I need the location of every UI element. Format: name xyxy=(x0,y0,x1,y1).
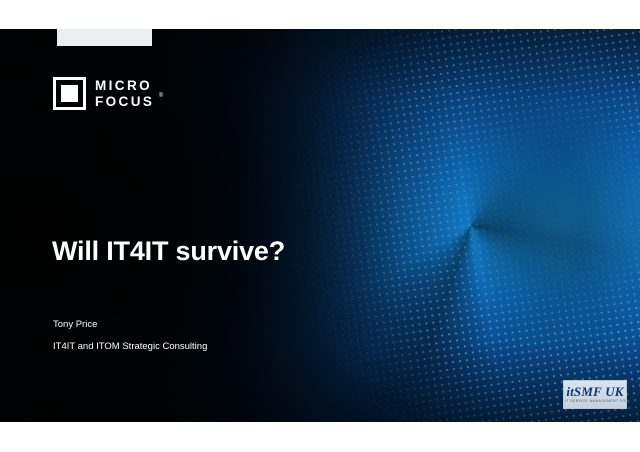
page-title: Will IT4IT survive? xyxy=(52,236,285,267)
micro-focus-square-icon xyxy=(53,77,86,110)
byline: Tony Price IT4IT and ITOM Strategic Cons… xyxy=(53,320,207,351)
title-slide: MICRO FOCUS ® Will IT4IT survive? Tony P… xyxy=(0,29,640,422)
micro-focus-wordmark: MICRO FOCUS ® xyxy=(95,79,154,109)
itsmf-uk-badge-name: itSMF UK xyxy=(566,385,623,398)
itsmf-uk-badge-tagline: THE IT SERVICE MANAGEMENT FORUM xyxy=(563,400,627,403)
micro-focus-logo: MICRO FOCUS ® xyxy=(53,77,154,110)
logo-word-micro: MICRO xyxy=(95,79,154,93)
slide-frame: MICRO FOCUS ® Will IT4IT survive? Tony P… xyxy=(0,0,640,452)
presenter-role: IT4IT and ITOM Strategic Consulting xyxy=(53,342,207,352)
registered-trademark-icon: ® xyxy=(159,93,163,99)
top-left-tab xyxy=(57,29,152,46)
logo-word-focus-text: FOCUS xyxy=(95,94,154,109)
presenter-name: Tony Price xyxy=(53,320,207,330)
logo-word-focus: FOCUS ® xyxy=(95,95,154,109)
itsmf-uk-badge: itSMF UK THE IT SERVICE MANAGEMENT FORUM xyxy=(563,380,627,409)
